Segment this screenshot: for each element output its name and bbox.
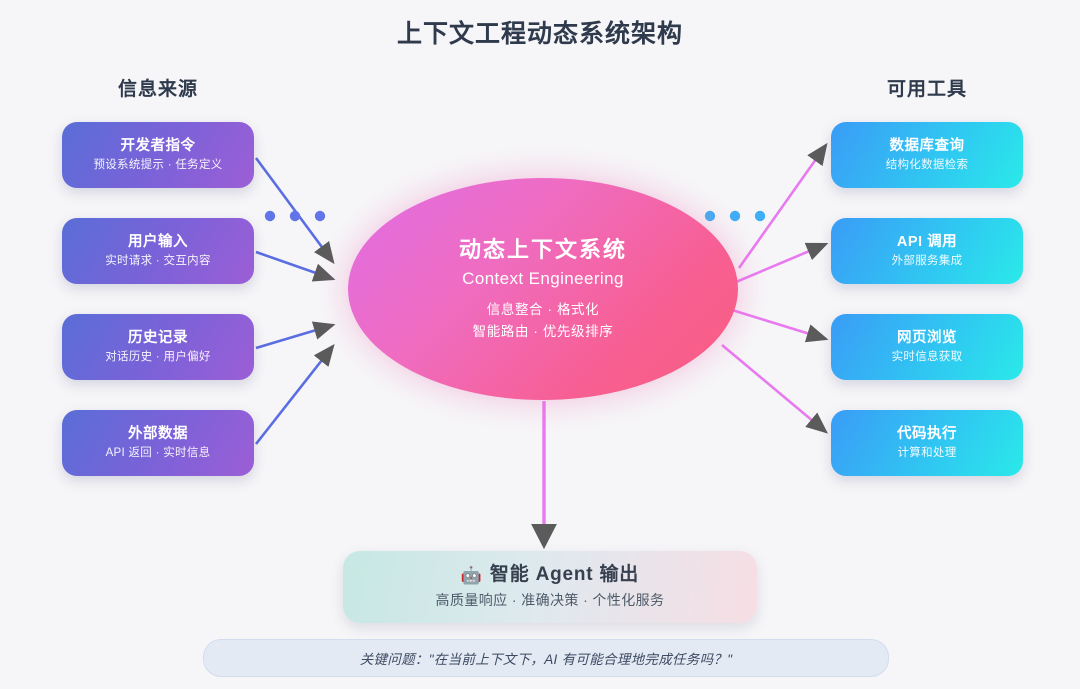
tool-card-api-call[interactable]: API 调用 外部服务集成: [831, 218, 1023, 284]
key-question-text: 关键问题："在当前上下文下，AI 有可能合理地完成任务吗？": [360, 648, 733, 668]
card-title: 网页浏览: [897, 328, 957, 348]
card-title: 代码执行: [897, 424, 957, 444]
card-subtitle: 实时信息获取: [892, 348, 963, 366]
key-question-note: 关键问题："在当前上下文下，AI 有可能合理地完成任务吗？": [203, 639, 889, 677]
tool-card-web-browsing[interactable]: 网页浏览 实时信息获取: [831, 314, 1023, 380]
card-title: 用户输入: [128, 232, 188, 252]
output-title: 智能 Agent 输出: [490, 562, 639, 588]
core-detail-line-2: 智能路由 · 优先级排序: [473, 321, 614, 343]
right-dot-1: [705, 211, 715, 221]
card-subtitle: 对话历史 · 用户偏好: [105, 348, 211, 366]
wire-history-to-core: [256, 325, 333, 348]
right-dot-row: [705, 211, 765, 221]
left-dot-3: [315, 211, 325, 221]
diagram-canvas: 上下文工程动态系统架构 信息来源 可用工具: [0, 0, 1080, 689]
robot-icon: 🤖: [461, 567, 483, 584]
output-subtitle: 高质量响应 · 准确决策 · 个性化服务: [436, 588, 665, 612]
card-subtitle: 实时请求 · 交互内容: [105, 252, 211, 270]
card-subtitle: 预设系统提示 · 任务定义: [93, 156, 222, 174]
card-title: 历史记录: [128, 328, 188, 348]
card-title: 外部数据: [128, 424, 188, 444]
card-title: 数据库查询: [890, 136, 965, 156]
card-subtitle: API 返回 · 实时信息: [106, 444, 211, 462]
left-dot-row: [265, 211, 325, 221]
wire-user-to-core: [256, 252, 333, 279]
right-dot-3: [755, 211, 765, 221]
core-title: 动态上下文系统: [459, 235, 627, 265]
wire-core-to-code: [722, 345, 826, 432]
source-card-history[interactable]: 历史记录 对话历史 · 用户偏好: [62, 314, 254, 380]
wire-core-to-web: [732, 310, 826, 339]
card-title: 开发者指令: [121, 136, 196, 156]
core-subtitle: Context Engineering: [462, 265, 624, 293]
wire-external-to-core: [256, 346, 333, 444]
left-dot-2: [290, 211, 300, 221]
card-subtitle: 计算和处理: [898, 444, 957, 462]
output-card-agent-output[interactable]: 🤖 智能 Agent 输出 高质量响应 · 准确决策 · 个性化服务: [343, 551, 757, 623]
output-title-row: 🤖 智能 Agent 输出: [461, 562, 639, 588]
source-card-external-data[interactable]: 外部数据 API 返回 · 实时信息: [62, 410, 254, 476]
left-dot-1: [265, 211, 275, 221]
core-node-dynamic-context-system[interactable]: 动态上下文系统 Context Engineering 信息整合 · 格式化 智…: [348, 178, 738, 400]
core-detail-line-1: 信息整合 · 格式化: [487, 299, 600, 321]
card-subtitle: 结构化数据检索: [886, 156, 969, 174]
card-subtitle: 外部服务集成: [892, 252, 963, 270]
wire-core-to-api: [736, 244, 826, 282]
source-card-user-input[interactable]: 用户输入 实时请求 · 交互内容: [62, 218, 254, 284]
source-card-developer-instructions[interactable]: 开发者指令 预设系统提示 · 任务定义: [62, 122, 254, 188]
wire-group-inputs: [256, 158, 333, 444]
right-dot-2: [730, 211, 740, 221]
card-title: API 调用: [897, 232, 957, 252]
tool-card-database-query[interactable]: 数据库查询 结构化数据检索: [831, 122, 1023, 188]
tool-card-code-execution[interactable]: 代码执行 计算和处理: [831, 410, 1023, 476]
wire-dev-to-core: [256, 158, 333, 262]
